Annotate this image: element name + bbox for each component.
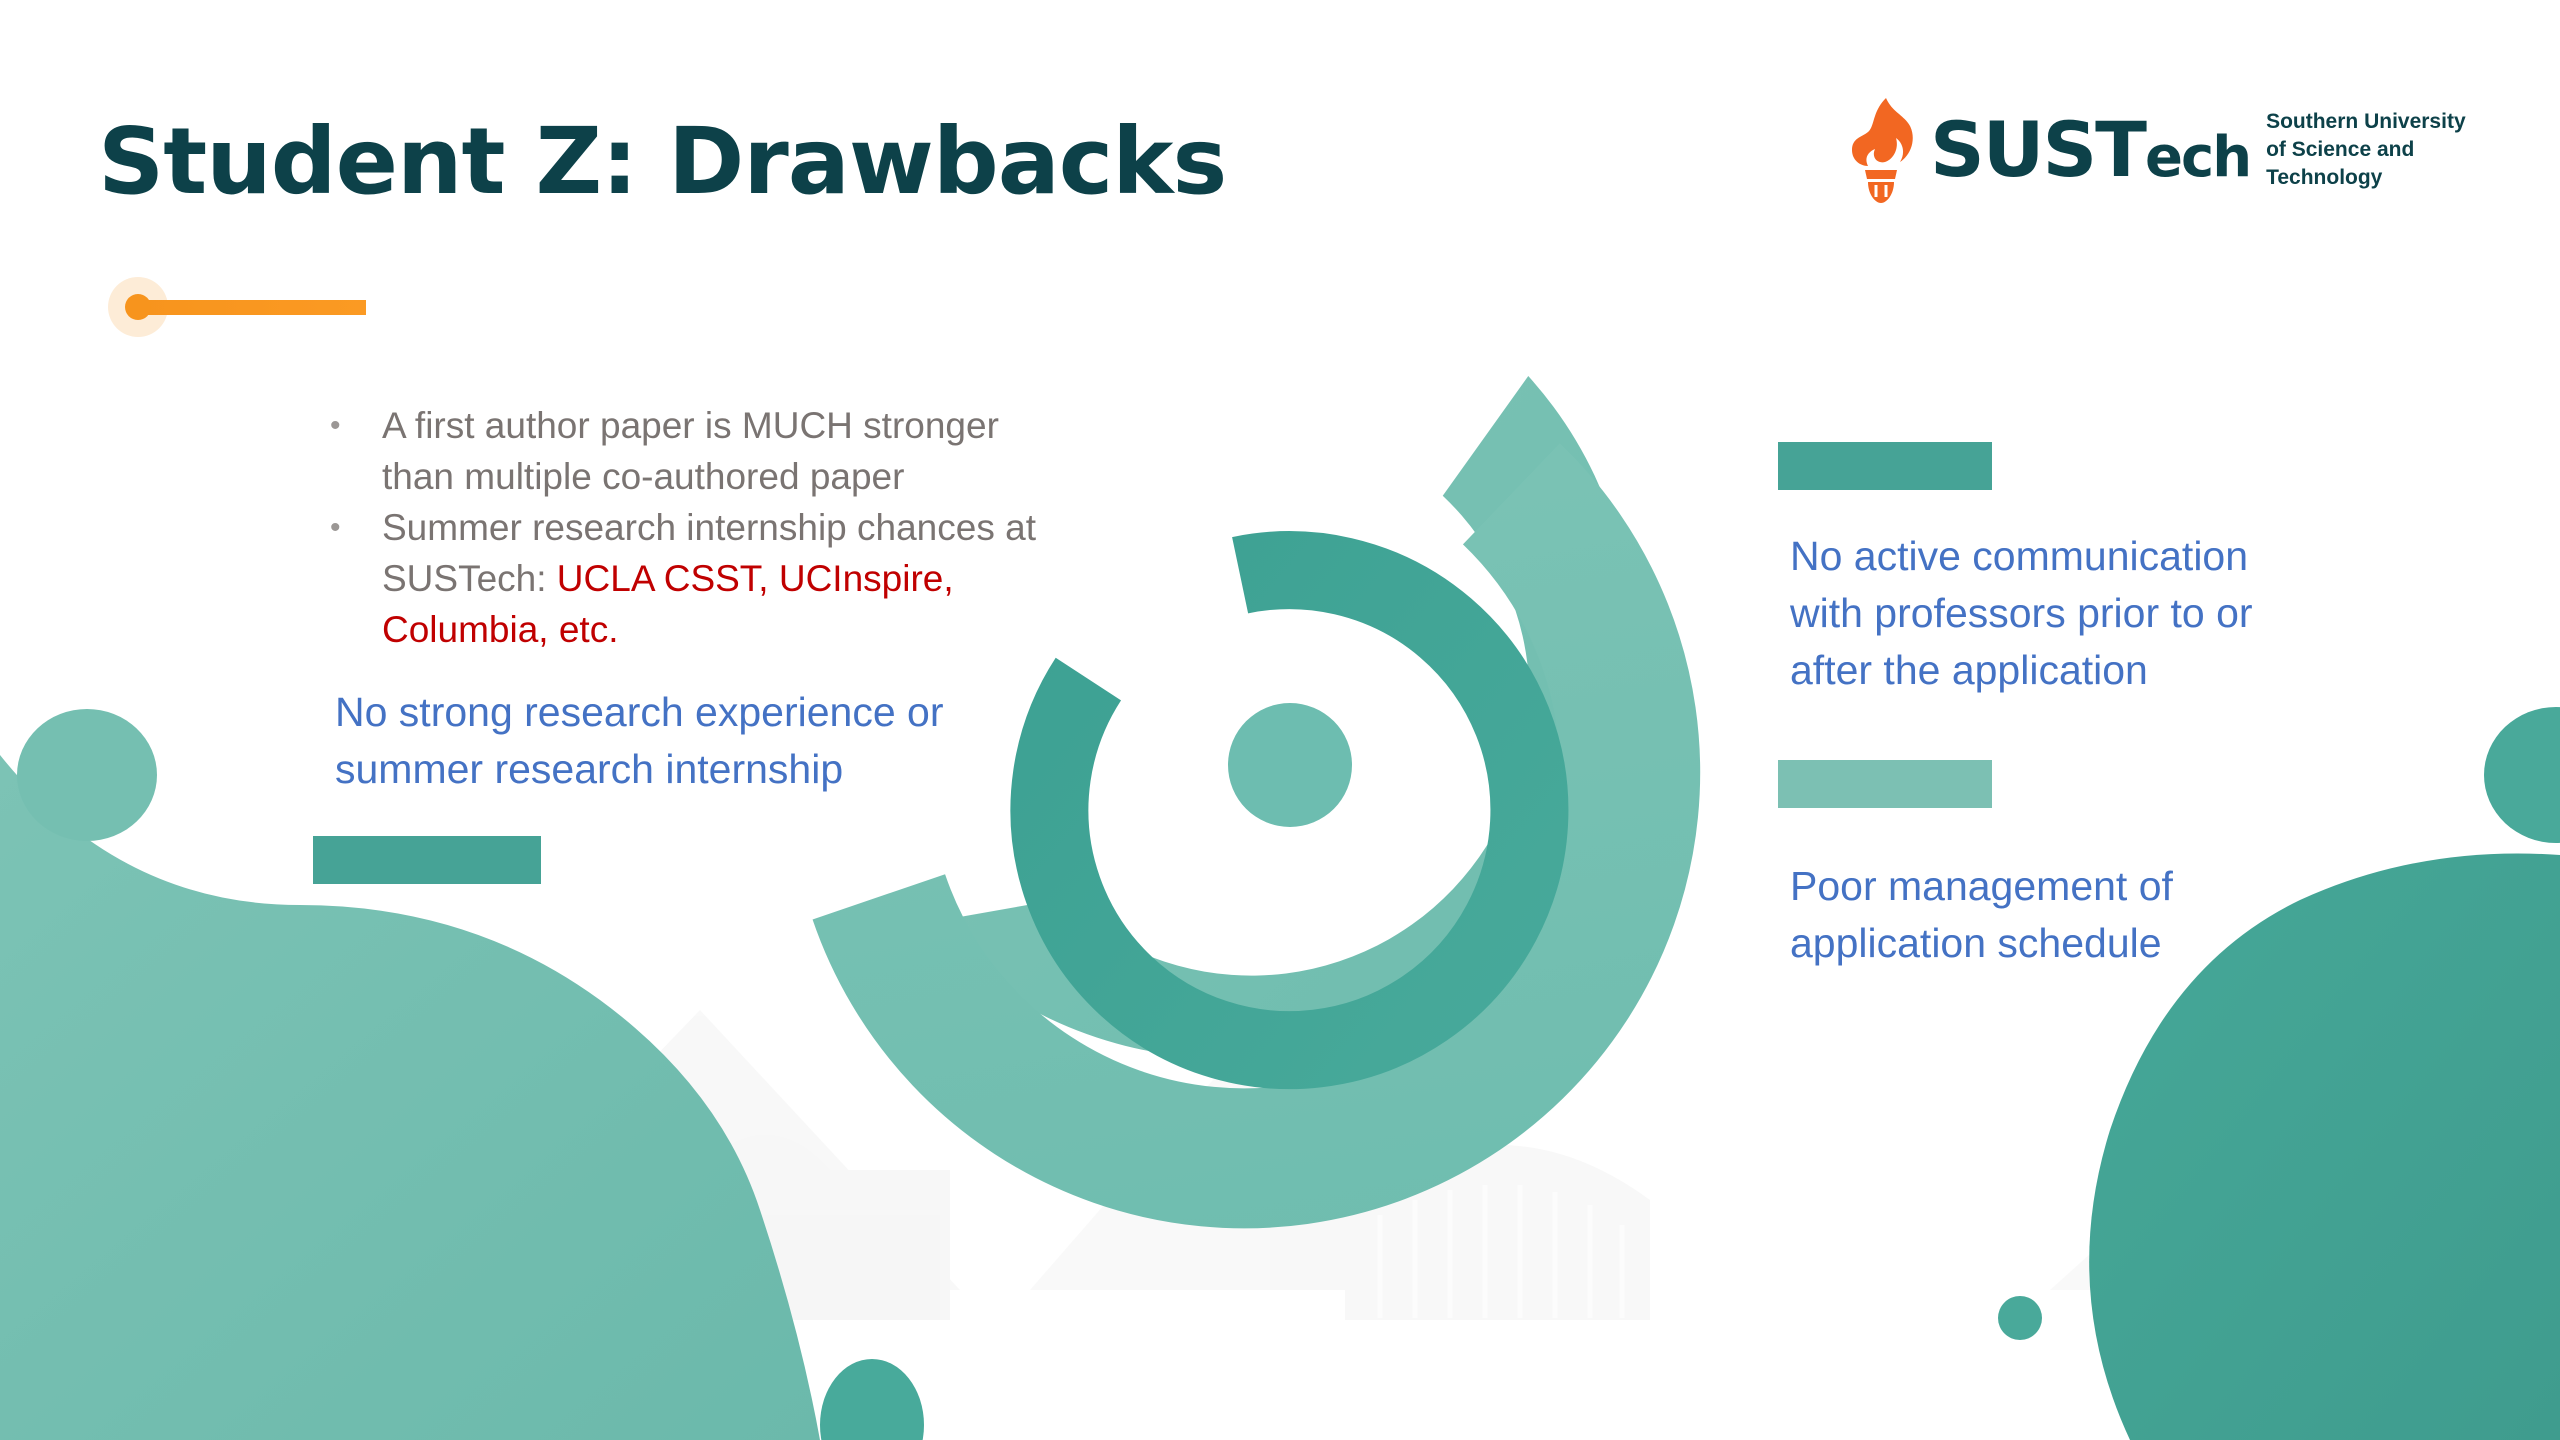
- list-item: • A first author paper is MUCH stronger …: [330, 400, 1070, 502]
- ellipse-bottom-left: [820, 1359, 924, 1440]
- circle-left: [17, 709, 157, 841]
- sustech-logo: SUSTech Southern University of Science a…: [1842, 95, 2466, 205]
- accent-dot: [125, 294, 151, 320]
- page-title: Student Z: Drawbacks: [98, 108, 1226, 215]
- logo-tagline-line-3: Technology: [2266, 164, 2466, 192]
- accent-rectangle-left: [313, 836, 541, 884]
- ring-inner-arc: [1005, 525, 1574, 1094]
- accent-rectangle-mid-right: [1778, 760, 1992, 808]
- bullet-marker-icon: •: [330, 502, 382, 553]
- callout-right-communication: No active communication with professors …: [1790, 528, 2270, 699]
- bullet-marker-icon: •: [330, 400, 382, 451]
- accent-bar: [138, 300, 366, 315]
- logo-tagline-line-1: Southern University: [2266, 108, 2466, 136]
- logo-wordmark: SUSTech: [1930, 112, 2250, 188]
- bullet-text: A first author paper is MUCH stronger th…: [382, 400, 1070, 502]
- list-item: • Summer research internship chances at …: [330, 502, 1070, 655]
- circle-right-edge: [2484, 707, 2560, 843]
- dot-bottom-right: [1998, 1296, 2042, 1340]
- slide-canvas: Student Z: Drawbacks SUSTech Southern Un…: [0, 0, 2560, 1440]
- callout-left: No strong research experience or summer …: [335, 684, 1065, 798]
- bullet-list: • A first author paper is MUCH stronger …: [330, 400, 1070, 655]
- callout-right-schedule: Poor management of application schedule: [1790, 858, 2270, 972]
- campus-silhouette: [430, 980, 2440, 1320]
- ring-center-dot: [1228, 703, 1352, 827]
- logo-tagline-line-2: of Science and: [2266, 136, 2466, 164]
- accent-rule: [108, 277, 388, 337]
- accent-rectangle-upper-right: [1778, 442, 1992, 490]
- torch-flame-icon: [1842, 96, 1920, 204]
- bullet-text: Summer research internship chances at SU…: [382, 502, 1070, 655]
- logo-wordmark-main: SUST: [1930, 105, 2145, 194]
- logo-wordmark-suffix: ech: [2145, 125, 2250, 190]
- logo-tagline: Southern University of Science and Techn…: [2266, 108, 2466, 191]
